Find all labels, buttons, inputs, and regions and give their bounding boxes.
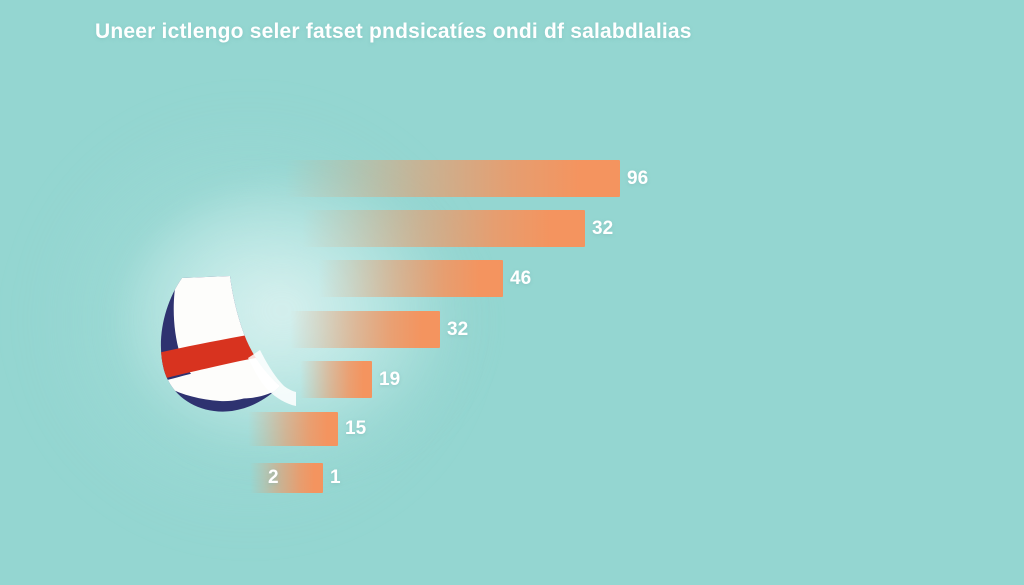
bar-fill [318,260,503,297]
bar-fill [285,160,620,197]
bar-inside-label: 2 [268,467,279,489]
bar-row[interactable]: 15 [248,412,338,446]
bar-fill [302,210,585,247]
bars-container: 96324632191521 [0,0,1024,585]
chart-canvas: Uneer ictlengo seler fatset pndsicatíes … [0,0,1024,585]
bar-value-label: 46 [510,268,531,290]
bar-fill [300,361,372,398]
bar-value-label: 19 [379,369,400,391]
bar-value-label: 15 [345,418,366,440]
bar-value-label: 1 [330,467,341,489]
bar-row[interactable]: 19 [300,361,372,398]
bar-row[interactable]: 46 [318,260,503,297]
bar-fill [248,412,338,446]
bar-row[interactable]: 32 [302,210,585,247]
bar-value-label: 96 [627,168,648,190]
bar-value-label: 32 [592,218,613,240]
bar-row[interactable]: 21 [250,463,323,493]
bar-fill [290,311,440,348]
bar-row[interactable]: 32 [290,311,440,348]
bar-row[interactable]: 96 [285,160,620,197]
bar-fill [250,463,323,493]
bar-value-label: 32 [447,319,468,341]
